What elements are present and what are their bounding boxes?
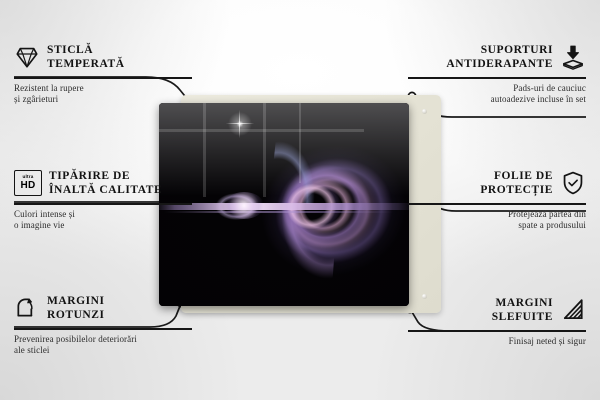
tempered-glass-panel xyxy=(159,103,409,306)
callout-title: TIPĂRIRE DE xyxy=(49,169,162,183)
callout-desc: Pads-uri de cauciuc xyxy=(408,83,586,95)
callout-desc: Rezistent la rupere xyxy=(14,83,192,95)
callout-desc: Protejează partea din xyxy=(408,209,586,221)
callout-polished-edges: MARGINI SLEFUITE Finisaj neted și sigur xyxy=(408,293,586,347)
callout-title: ROTUNZI xyxy=(47,308,105,322)
callout-title: STICLĂ xyxy=(47,43,125,57)
press-pad-icon xyxy=(560,44,586,70)
callout-title: PROTECȚIE xyxy=(480,183,553,197)
callout-desc: ale sticlei xyxy=(14,345,192,357)
artwork-abstract-swirl xyxy=(159,103,409,306)
callout-desc: autoadezive incluse în set xyxy=(408,94,586,106)
callout-title: MARGINI xyxy=(492,296,553,310)
callout-desc: o imagine vie xyxy=(14,220,192,232)
callout-title: MARGINI xyxy=(47,294,105,308)
rounded-corner-icon xyxy=(14,295,40,321)
divider xyxy=(408,77,586,79)
callout-rounded-edges: MARGINI ROTUNZI Prevenirea posibilelor d… xyxy=(14,291,192,357)
product-image xyxy=(159,95,441,313)
shield-check-icon xyxy=(560,170,586,196)
callout-protective-film: FOLIE DE PROTECȚIE Protejează partea din… xyxy=(408,166,586,232)
callout-title: FOLIE DE xyxy=(480,169,553,183)
callout-desc: și zgârieturi xyxy=(14,94,192,106)
divider xyxy=(14,77,192,79)
ultra-hd-icon: ultra HD xyxy=(14,170,42,196)
callout-high-quality-print: ultra HD TIPĂRIRE DE ÎNALTĂ CALITATE Cul… xyxy=(14,166,192,232)
hatch-triangle-icon xyxy=(560,297,586,323)
divider xyxy=(408,330,586,332)
callout-tempered-glass: STICLĂ TEMPERATĂ Rezistent la rupere și … xyxy=(14,40,192,106)
callout-desc: Finisaj neted și sigur xyxy=(408,336,586,348)
callout-anti-slip-pads: SUPORTURI ANTIDERAPANTE Pads-uri de cauc… xyxy=(408,40,586,106)
divider xyxy=(14,203,192,205)
rubber-pad xyxy=(422,109,427,114)
callout-title: SLEFUITE xyxy=(492,310,553,324)
callout-title: TEMPERATĂ xyxy=(47,57,125,71)
callout-title: SUPORTURI xyxy=(446,43,553,57)
ultra-hd-icon-main: HD xyxy=(20,181,35,191)
callout-desc: Culori intense și xyxy=(14,209,192,221)
divider xyxy=(408,203,586,205)
callout-title: ÎNALTĂ CALITATE xyxy=(49,183,162,197)
diamond-icon xyxy=(14,44,40,70)
callout-desc: Prevenirea posibilelor deteriorări xyxy=(14,334,192,346)
infographic-canvas: STICLĂ TEMPERATĂ Rezistent la rupere și … xyxy=(0,0,600,400)
callout-desc: spate a produsului xyxy=(408,220,586,232)
callout-title: ANTIDERAPANTE xyxy=(446,57,553,71)
divider xyxy=(14,328,192,330)
